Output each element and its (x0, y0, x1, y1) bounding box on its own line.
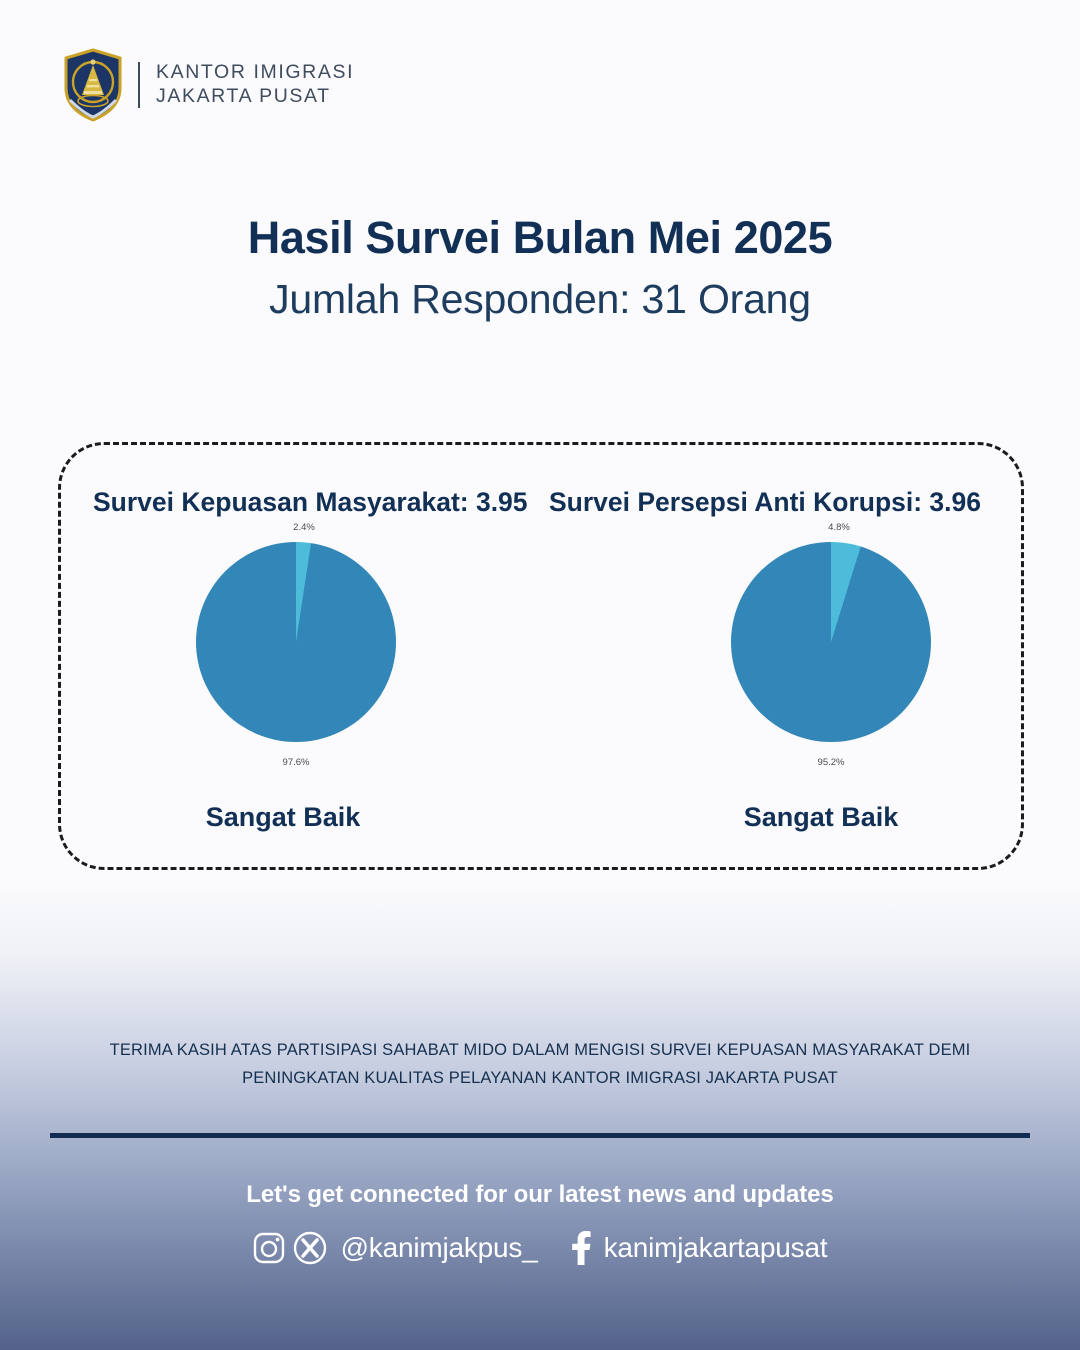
social-links-row: @kanimjakpus_ kanimjakartapusat (0, 1231, 1080, 1265)
chart-panel-anticorruption: Survei Persepsi Anti Korupsi: 3.96 4.8% … (541, 445, 1021, 867)
instagram-icon[interactable] (253, 1232, 285, 1264)
x-twitter-icon[interactable] (293, 1231, 327, 1265)
charts-card: Survei Kepuasan Masyarakat: 3.95 2.4% 97… (58, 442, 1024, 870)
pie-graphic (731, 542, 931, 742)
thanks-line-2: PENINGKATAN KUALITAS PELAYANAN KANTOR IM… (75, 1064, 1005, 1092)
organization-name: KANTOR IMIGRASI JAKARTA PUSAT (156, 61, 354, 109)
brand-divider (138, 62, 140, 108)
immigration-shield-logo-icon (62, 48, 124, 122)
pie-chart-anticorruption: 4.8% 95.2% (731, 542, 931, 742)
pie-graphic (196, 542, 396, 742)
footer-divider (50, 1133, 1030, 1138)
charts-row: Survei Kepuasan Masyarakat: 3.95 2.4% 97… (61, 445, 1021, 867)
chart-heading: Survei Kepuasan Masyarakat: 3.95 (61, 485, 541, 520)
facebook-icon[interactable] (568, 1231, 592, 1265)
page-subtitle: Jumlah Responden: 31 Orang (0, 276, 1080, 323)
pie-legend-label: Sangat Baik (581, 802, 1061, 833)
footer: Let's get connected for our latest news … (0, 1181, 1080, 1265)
page-title: Hasil Survei Bulan Mei 2025 (0, 212, 1080, 264)
title-block: Hasil Survei Bulan Mei 2025 Jumlah Respo… (0, 212, 1080, 323)
pie-slice-label-large: 97.6% (283, 757, 310, 768)
poster-canvas: KANTOR IMIGRASI JAKARTA PUSAT Hasil Surv… (0, 0, 1080, 1350)
pie-slice-label-small: 4.8% (828, 522, 850, 533)
footer-tagline: Let's get connected for our latest news … (0, 1181, 1080, 1209)
facebook-handle[interactable]: kanimjakartapusat (604, 1232, 828, 1264)
chart-heading: Survei Persepsi Anti Korupsi: 3.96 (541, 485, 1021, 520)
thank-you-message: TERIMA KASIH ATAS PARTISIPASI SAHABAT MI… (75, 1036, 1005, 1093)
pie-slice-label-large: 95.2% (818, 757, 845, 768)
brand-header: KANTOR IMIGRASI JAKARTA PUSAT (62, 48, 354, 122)
chart-panel-satisfaction: Survei Kepuasan Masyarakat: 3.95 2.4% 97… (61, 445, 541, 867)
pie-legend-label: Sangat Baik (43, 802, 523, 833)
org-line-1: KANTOR IMIGRASI (156, 61, 354, 85)
pie-slice-label-small: 2.4% (293, 522, 315, 533)
org-line-2: JAKARTA PUSAT (156, 85, 354, 109)
thanks-line-1: TERIMA KASIH ATAS PARTISIPASI SAHABAT MI… (75, 1036, 1005, 1064)
social-handle[interactable]: @kanimjakpus_ (341, 1232, 538, 1264)
pie-chart-satisfaction: 2.4% 97.6% (196, 542, 396, 742)
